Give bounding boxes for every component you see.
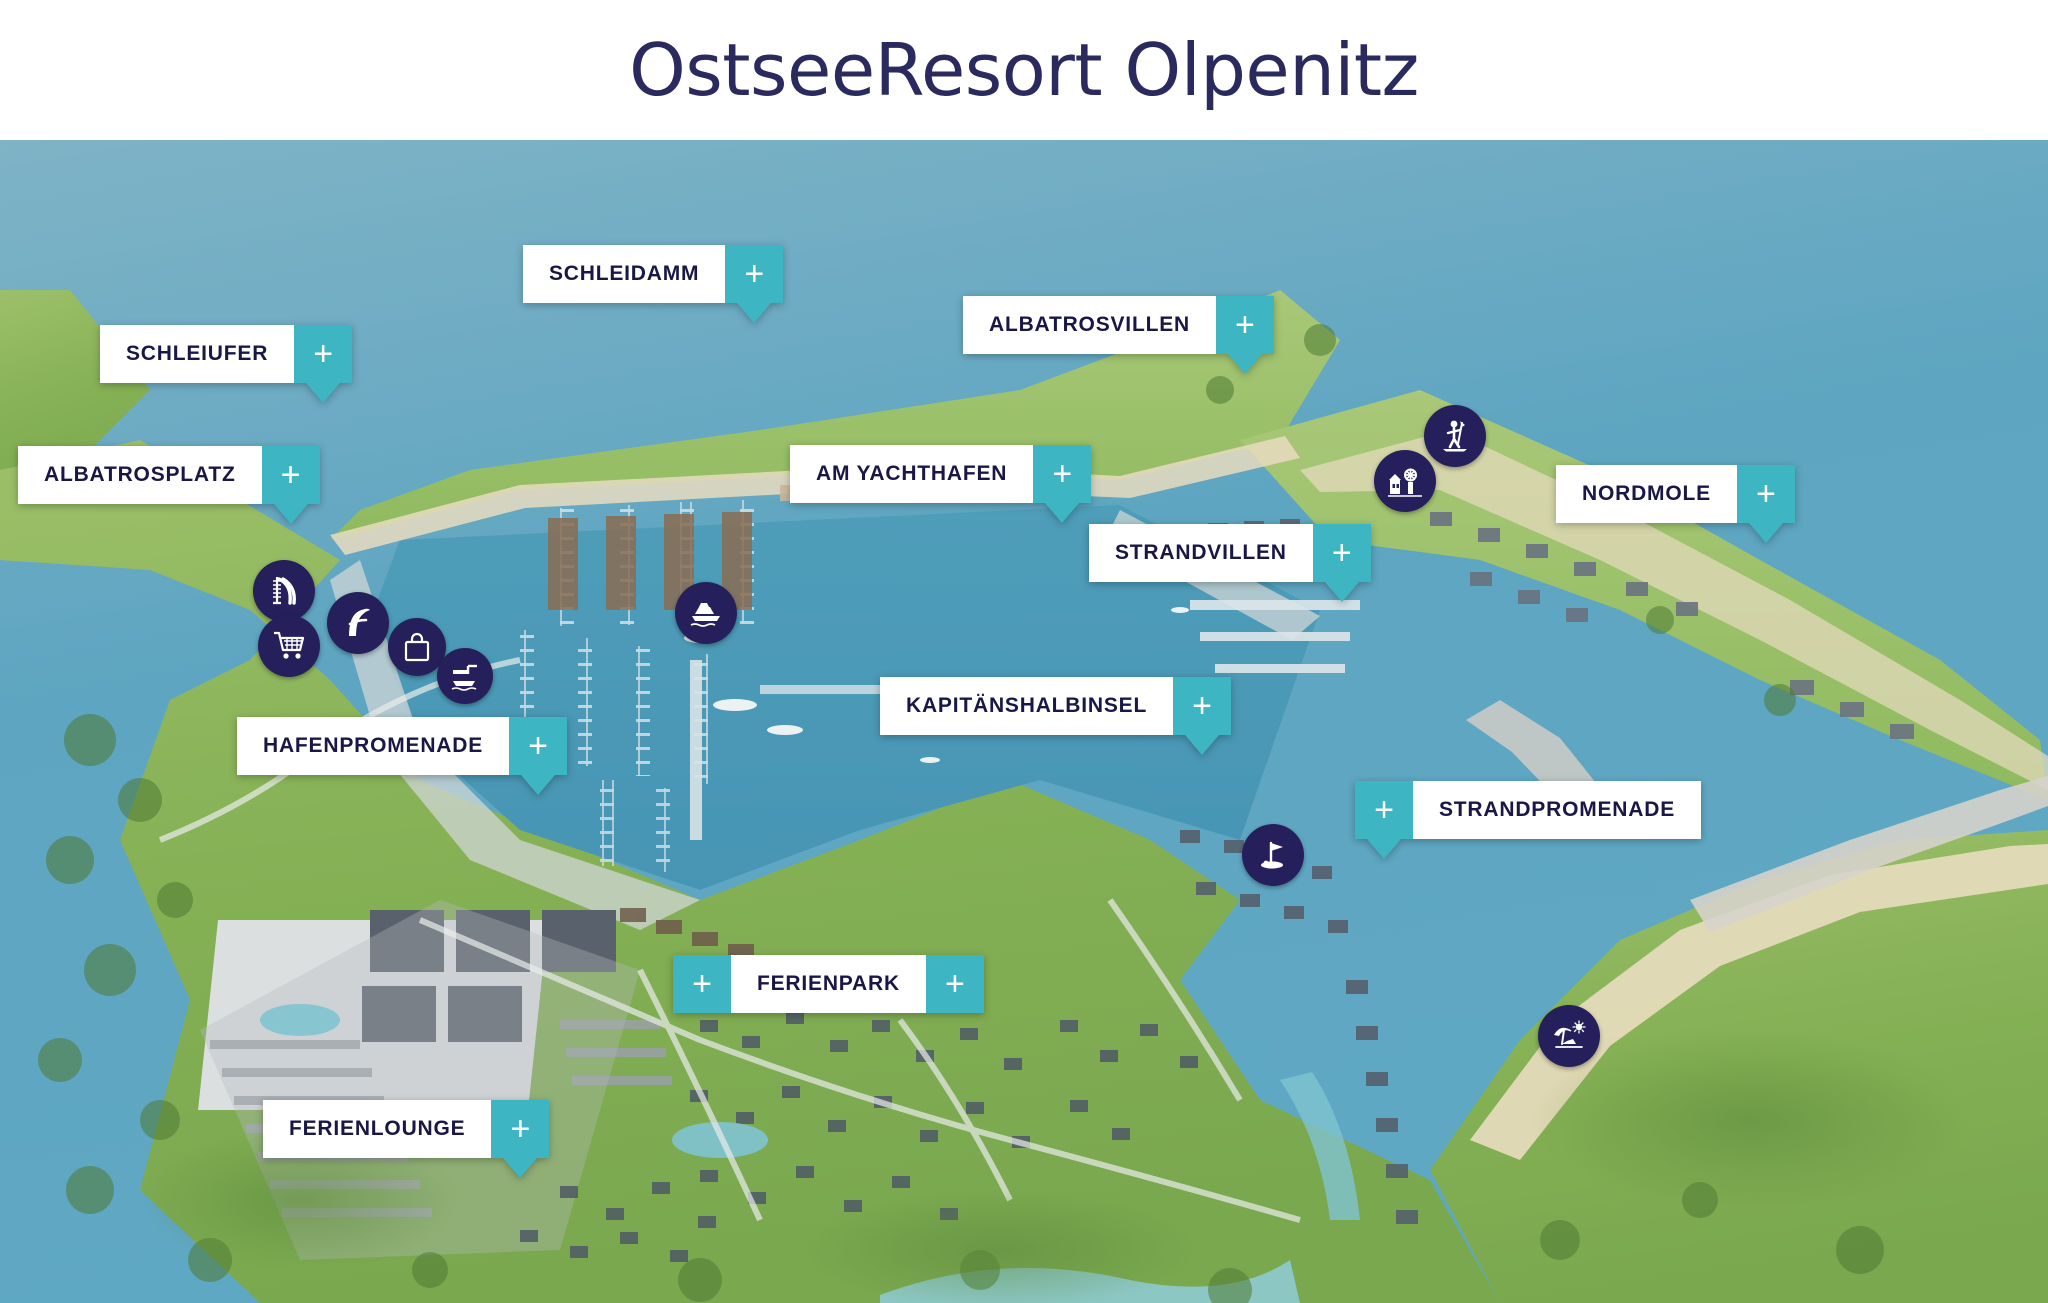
hotspot-albatrosvillen[interactable]: ALBATROSVILLEN + [963,296,1274,354]
hotspot-label: NORDMOLE [1556,465,1737,523]
restaurant-f-icon [339,604,377,642]
hotspot-kapitaenshalbinsel[interactable]: KAPITÄNSHALBINSEL + [880,677,1231,735]
title-bar: OstseeResort Olpenitz [0,0,2048,140]
hotspot-ferienpark[interactable]: + FERIENPARK + [673,955,984,1013]
water-slide-icon [266,573,302,609]
hotspot-albatrosplatz[interactable]: ALBATROSPLATZ + [18,446,320,504]
poi-shopping-cart[interactable] [258,615,320,677]
plus-icon[interactable]: + [1355,781,1413,839]
hotspot-label: HAFENPROMENADE [237,717,509,775]
boat-ramp-icon [449,660,481,692]
hotspot-ferienlounge[interactable]: FERIENLOUNGE + [263,1100,549,1158]
hotspot-label: SCHLEIUFER [100,325,294,383]
hotspot-strandvillen[interactable]: STRANDVILLEN + [1089,524,1371,582]
shopping-bag-icon [401,631,433,663]
poi-restaurant[interactable] [327,592,389,654]
resort-map-page: OstseeResort Olpenitz [0,0,2048,1303]
plus-icon[interactable]: + [725,245,783,303]
hotspot-label: FERIENPARK [731,955,926,1013]
hotspot-label: STRANDVILLEN [1089,524,1313,582]
poi-golf[interactable] [1242,824,1304,886]
hotspot-hafenpromenade[interactable]: HAFENPROMENADE + [237,717,567,775]
hotspot-label: AM YACHTHAFEN [790,445,1033,503]
poi-seaside-town[interactable] [1374,450,1436,512]
seaside-town-icon [1386,462,1424,500]
plus-icon-right[interactable]: + [926,955,984,1013]
plus-icon[interactable]: + [491,1100,549,1158]
poi-water-slide[interactable] [253,560,315,622]
page-title: OstseeResort Olpenitz [629,28,1419,112]
motorboat-icon [687,594,725,632]
plus-icon[interactable]: + [509,717,567,775]
hotspot-strandpromenade[interactable]: + STRANDPROMENADE [1355,781,1701,839]
hotspot-nordmole[interactable]: NORDMOLE + [1556,465,1795,523]
shopping-cart-icon [271,628,307,664]
golf-flag-icon [1254,836,1292,874]
beach-umbrella-icon [1550,1017,1588,1055]
plus-icon[interactable]: + [1737,465,1795,523]
hotspot-label: FERIENLOUNGE [263,1100,491,1158]
hotspot-schleidamm[interactable]: SCHLEIDAMM + [523,245,783,303]
poi-beach[interactable] [1538,1005,1600,1067]
hotspot-label: ALBATROSVILLEN [963,296,1216,354]
plus-icon[interactable]: + [1313,524,1371,582]
plus-icon[interactable]: + [262,446,320,504]
hotspot-label: ALBATROSPLATZ [18,446,262,504]
plus-icon[interactable]: + [1033,445,1091,503]
plus-icon[interactable]: + [294,325,352,383]
hotspot-label: STRANDPROMENADE [1413,781,1701,839]
hotspot-am-yachthafen[interactable]: AM YACHTHAFEN + [790,445,1091,503]
poi-stand-up-paddle[interactable] [1424,405,1486,467]
plus-icon-left[interactable]: + [673,955,731,1013]
hotspot-label: KAPITÄNSHALBINSEL [880,677,1173,735]
aerial-resort-map[interactable]: SCHLEIDAMM + ALBATROSVILLEN + SCHLEIUFER… [0,140,2048,1303]
poi-motorboat[interactable] [675,582,737,644]
poi-boat-ramp[interactable] [437,648,493,704]
hotspot-label: SCHLEIDAMM [523,245,725,303]
plus-icon[interactable]: + [1173,677,1231,735]
plus-icon[interactable]: + [1216,296,1274,354]
stand-up-paddle-icon [1436,417,1474,455]
hotspot-schleiufer[interactable]: SCHLEIUFER + [100,325,352,383]
